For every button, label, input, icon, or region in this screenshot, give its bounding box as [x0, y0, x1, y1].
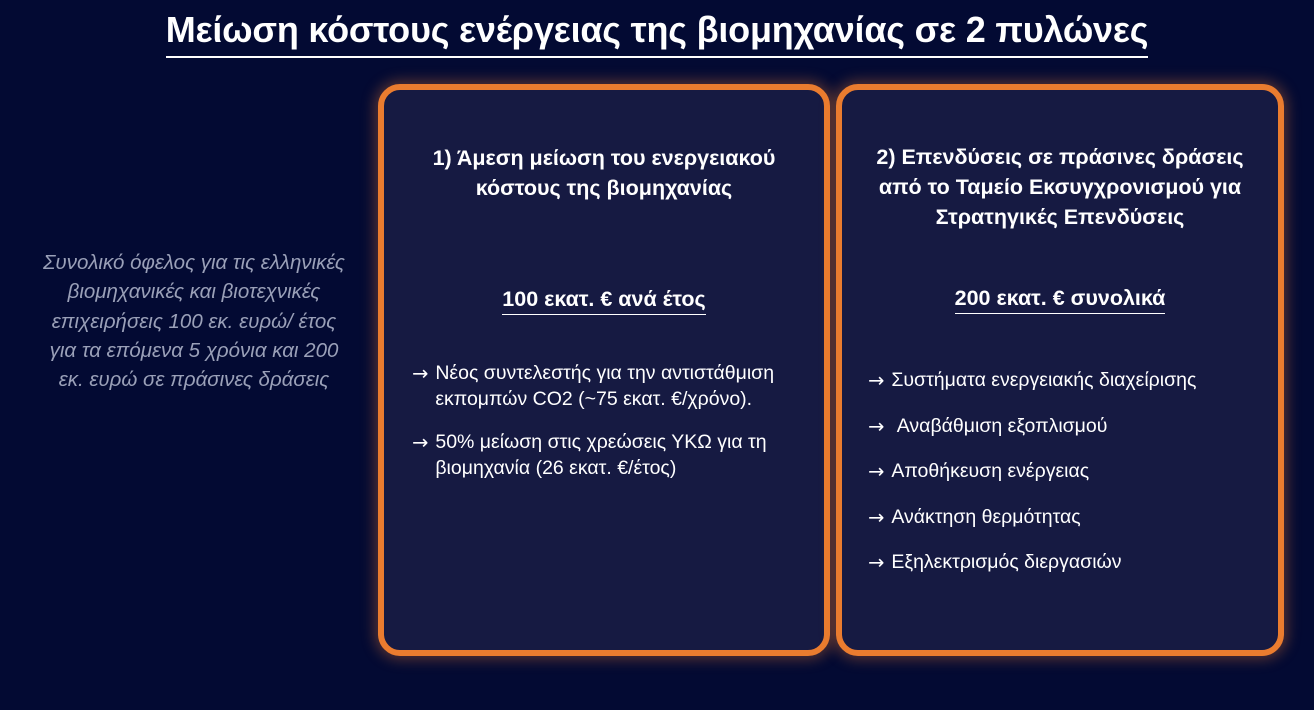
list-item-label: Αποθήκευση ενέργειας [891, 459, 1268, 485]
pillar-card-2-bullet-list: → Συστήματα ενεργειακής διαχείρισης → Αν… [842, 368, 1278, 596]
pillar-card-1-heading: 1) Άμεση μείωση του ενεργειακού κόστους … [384, 143, 824, 203]
list-item: → Αποθήκευση ενέργειας [868, 459, 1268, 485]
pillar-card-2-amount-text: 200 εκατ. € συνολικά [955, 286, 1166, 314]
list-item: → Νέος συντελεστής για την αντιστάθμιση … [412, 361, 810, 412]
arrow-right-icon: → [868, 505, 884, 531]
arrow-right-icon: → [868, 550, 884, 576]
pillar-card-1-amount: 100 εκατ. € ανά έτος [384, 287, 824, 315]
pillar-card-1-bullet-list: → Νέος συντελεστής για την αντιστάθμιση … [384, 361, 824, 499]
page-title-text: Μείωση κόστους ενέργειας της βιομηχανίας… [166, 9, 1149, 58]
arrow-right-icon: → [868, 368, 884, 394]
arrow-right-icon: → [412, 361, 428, 387]
pillar-card-2-amount: 200 εκατ. € συνολικά [842, 286, 1278, 314]
list-item-label: Συστήματα ενεργειακής διαχείρισης [891, 368, 1268, 394]
list-item-label: Αναβάθμιση εξοπλισμού [891, 414, 1268, 440]
pillar-card-1: 1) Άμεση μείωση του ενεργειακού κόστους … [378, 84, 830, 656]
list-item: → Αναβάθμιση εξοπλισμού [868, 414, 1268, 440]
list-item: → 50% μείωση στις χρεώσεις ΥΚΩ για τη βι… [412, 430, 810, 481]
arrow-right-icon: → [412, 430, 428, 456]
list-item: → Εξηλεκτρισμός διεργασιών [868, 550, 1268, 576]
list-item-label: Εξηλεκτρισμός διεργασιών [891, 550, 1268, 576]
list-item-label: Νέος συντελεστής για την αντιστάθμιση εκ… [435, 361, 810, 412]
slide-canvas: Μείωση κόστους ενέργειας της βιομηχανίας… [0, 0, 1314, 710]
arrow-right-icon: → [868, 414, 884, 440]
pillar-card-1-amount-text: 100 εκατ. € ανά έτος [502, 287, 705, 315]
pillar-card-2-content: 2) Επενδύσεις σε πράσινες δράσεις από το… [842, 90, 1278, 650]
list-item: → Συστήματα ενεργειακής διαχείρισης [868, 368, 1268, 394]
arrow-right-icon: → [868, 459, 884, 485]
page-title: Μείωση κόστους ενέργειας της βιομηχανίας… [0, 9, 1314, 58]
summary-note: Συνολικό όφελος για τις ελληνικές βιομηχ… [38, 248, 350, 394]
pillar-card-2-heading: 2) Επενδύσεις σε πράσινες δράσεις από το… [842, 142, 1278, 232]
list-item: → Ανάκτηση θερμότητας [868, 505, 1268, 531]
list-item-label: Ανάκτηση θερμότητας [891, 505, 1268, 531]
pillar-card-2: 2) Επενδύσεις σε πράσινες δράσεις από το… [836, 84, 1284, 656]
list-item-label: 50% μείωση στις χρεώσεις ΥΚΩ για τη βιομ… [435, 430, 810, 481]
pillar-card-1-content: 1) Άμεση μείωση του ενεργειακού κόστους … [384, 90, 824, 650]
